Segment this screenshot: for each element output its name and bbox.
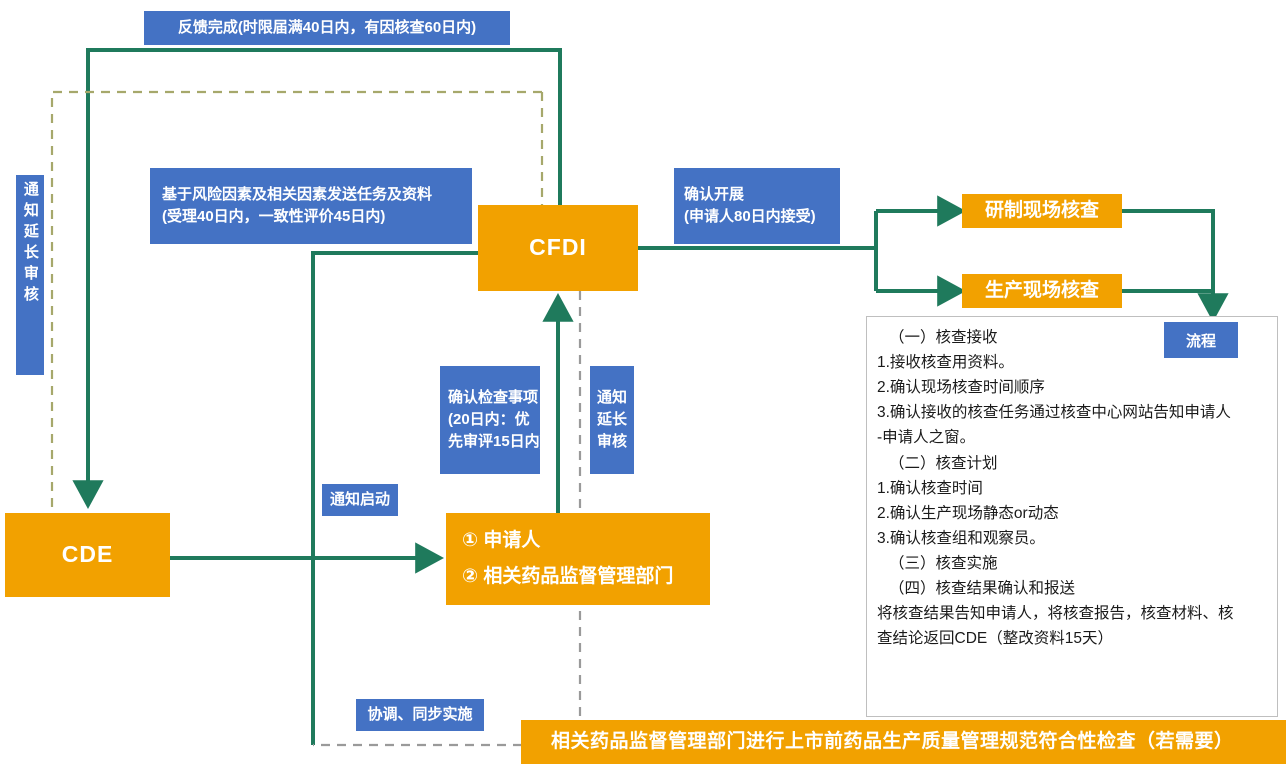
panel-line-10: （四）核查结果确认和报送: [877, 576, 1265, 601]
label-coordinate-sync: 协调、同步实施: [356, 699, 484, 731]
label-feedback-done: 反馈完成(时限届满40日内，有因核查60日内): [144, 11, 510, 45]
panel-line-7: 2.确认生产现场静态or动态: [877, 501, 1265, 526]
label-confirm-start-line2: (申请人80日内接受): [684, 206, 816, 228]
notify-extend-mid-c2: 延长: [597, 409, 627, 431]
panel-line-11: 将核查结果告知申请人，将核查报告，核查材料、核: [877, 601, 1265, 626]
wire-dashed-olive-loop: [52, 92, 542, 557]
panel-line-9: （三）核查实施: [877, 551, 1265, 576]
node-research-site-check[interactable]: 研制现场核查: [962, 194, 1122, 228]
panel-line-12: 查结论返回CDE（整改资料15天）: [877, 626, 1265, 651]
panel-line-5: （二）核查计划: [877, 451, 1265, 476]
label-confirm-start-line1: 确认开展: [684, 184, 744, 206]
label-notify-extend-mid: 通知 延长 审核: [590, 366, 634, 474]
notify-extend-mid-c3: 审核: [597, 431, 627, 453]
actor-line-applicant: ① 申请人: [462, 523, 540, 559]
inspection-detail-panel: （一）核查接收 1.接收核查用资料。 2.确认现场核查时间顺序 3.确认接收的核…: [866, 316, 1278, 717]
node-production-site-check[interactable]: 生产现场核查: [962, 274, 1122, 308]
panel-line-4: -申请人之窗。: [877, 425, 1265, 450]
node-actor-group[interactable]: ① 申请人 ② 相关药品监督管理部门: [446, 513, 710, 605]
panel-line-6: 1.确认核查时间: [877, 476, 1265, 501]
node-cfdi[interactable]: CFDI: [478, 205, 638, 291]
label-confirm-items: 确认检查事项 (20日内：优 先审评15日内): [440, 366, 540, 474]
label-confirm-items-line1: 确认检查事项: [448, 387, 538, 409]
badge-flow[interactable]: 流程: [1164, 322, 1238, 358]
flowchart-canvas: 反馈完成(时限届满40日内，有因核查60日内) 通知延长审核 基于风险因素及相关…: [0, 0, 1286, 768]
label-confirm-items-line3: 先审评15日内): [448, 431, 545, 453]
label-confirm-items-line2: (20日内：优: [448, 409, 530, 431]
bottom-banner: 相关药品监督管理部门进行上市前药品生产质量管理规范符合性检查（若需要）: [521, 720, 1286, 764]
node-cde[interactable]: CDE: [5, 513, 170, 597]
notify-extend-mid-c1: 通知: [597, 387, 627, 409]
panel-line-8: 3.确认核查组和观察员。: [877, 526, 1265, 551]
panel-line-3: 3.确认接收的核查任务通过核查中心网站告知申请人: [877, 400, 1265, 425]
label-notify-launch: 通知启动: [322, 484, 398, 516]
label-send-task-line2: (受理40日内，一致性评价45日内): [162, 206, 385, 228]
actor-line-department: ② 相关药品监督管理部门: [462, 559, 673, 595]
panel-line-2: 2.确认现场核查时间顺序: [877, 375, 1265, 400]
label-send-task-line1: 基于风险因素及相关因素发送任务及资料: [162, 184, 432, 206]
label-confirm-start: 确认开展 (申请人80日内接受): [674, 168, 840, 244]
label-notify-extend-left: 通知延长审核: [16, 175, 44, 375]
wire-research-return: [1122, 211, 1213, 318]
label-send-task: 基于风险因素及相关因素发送任务及资料 (受理40日内，一致性评价45日内): [150, 168, 472, 244]
